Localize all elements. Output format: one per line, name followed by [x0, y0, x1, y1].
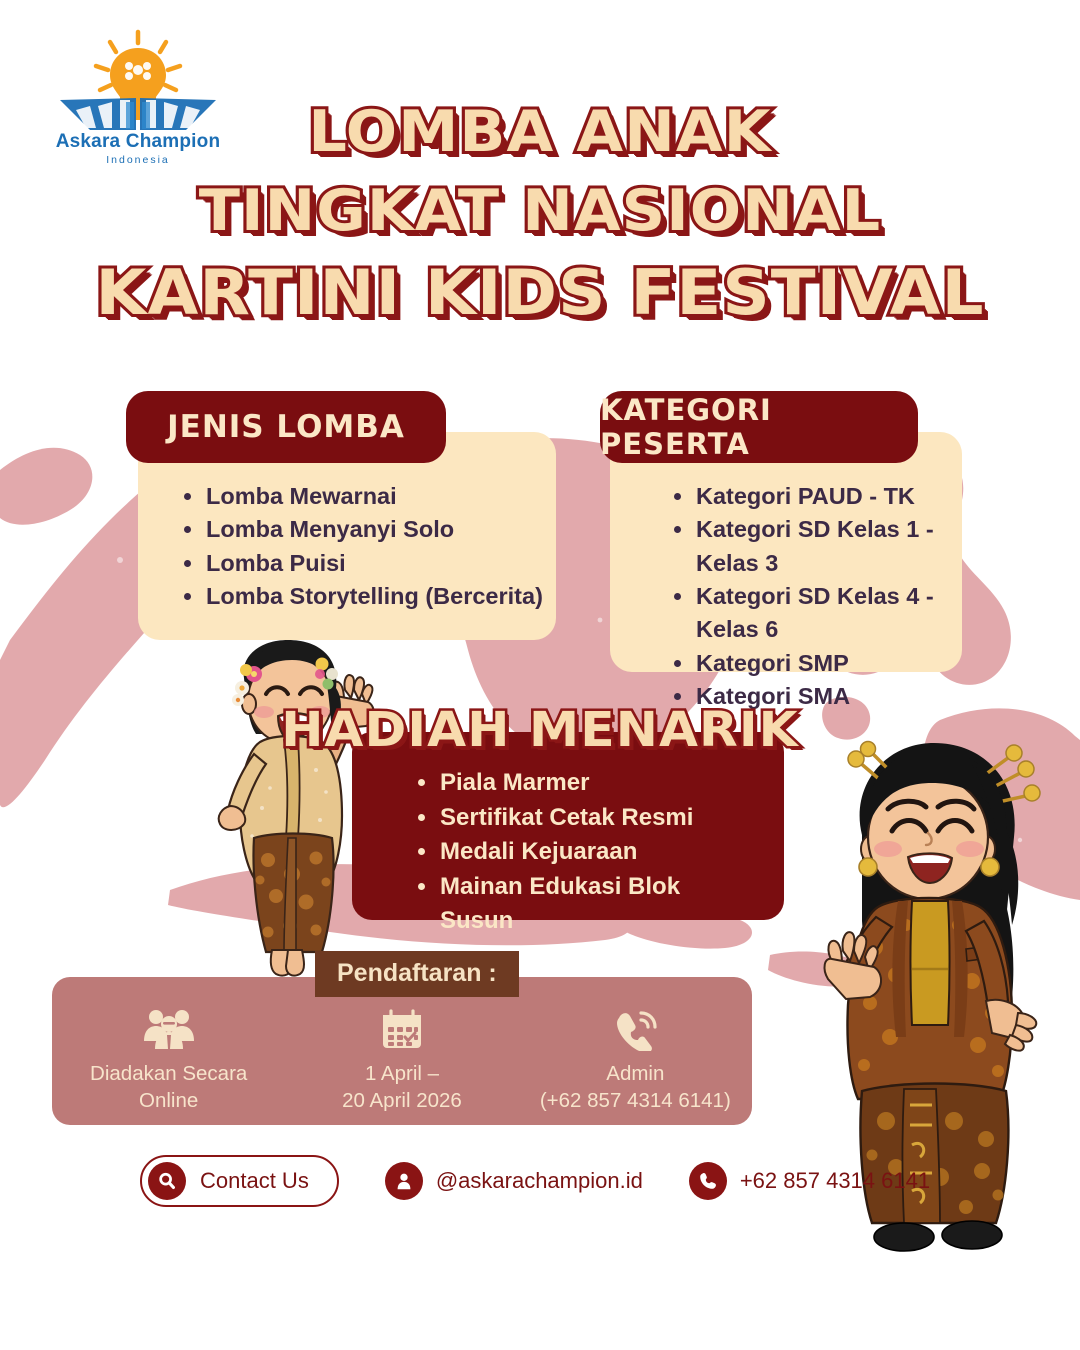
brand-subtitle: Indonesia — [38, 154, 238, 166]
kategori-peserta-header: KATEGORI PESERTA — [600, 391, 918, 463]
registration-bar: Diadakan Secara Online — [52, 977, 752, 1125]
registration-tab-label: Pendaftaran : — [315, 951, 519, 997]
jenis-lomba-list: Lomba MewarnaiLomba Menyanyi SoloLomba P… — [150, 480, 584, 613]
headline-line-2: TINGKAT NASIONAL — [0, 183, 1080, 240]
list-item: Kategori SD Kelas 4 - Kelas 6 — [674, 580, 974, 647]
poster-root: Askara Champion Indonesia LOMBA ANAK TIN… — [0, 0, 1080, 1350]
list-item: Lomba Menyanyi Solo — [184, 513, 584, 546]
calendar-check-icon — [378, 1007, 426, 1051]
person-icon — [385, 1162, 423, 1200]
list-item: Sertifikat Cetak Resmi — [418, 801, 748, 836]
registration-online-line2: Online — [139, 1088, 198, 1115]
instagram-handle: @askarachampion.id — [436, 1168, 643, 1194]
list-item: Piala Marmer — [418, 766, 748, 801]
registration-column-admin: Admin (+62 857 4314 6141) — [519, 977, 752, 1125]
contact-us-button[interactable]: Contact Us — [140, 1155, 339, 1207]
list-item: Medali Kejuaraan — [418, 835, 748, 870]
list-item: Lomba Mewarnai — [184, 480, 584, 513]
registration-online-line1: Diadakan Secara — [90, 1061, 247, 1088]
registration-column-online: Diadakan Secara Online — [52, 977, 285, 1125]
phone-contact[interactable]: +62 857 4314 6141 — [689, 1162, 930, 1200]
list-item: Kategori SMP — [674, 647, 974, 680]
registration-dates-line1: 1 April – — [365, 1061, 439, 1088]
phone-number: +62 857 4314 6141 — [740, 1168, 930, 1194]
headline-line-3: KARTINI KIDS FESTIVAL — [0, 262, 1080, 324]
list-item: Mainan Edukasi Blok Susun — [418, 870, 748, 939]
contact-us-label: Contact Us — [200, 1168, 309, 1194]
lightbulb-book-logo-icon — [38, 26, 238, 136]
registration-dates-line2: 20 April 2026 — [342, 1088, 462, 1115]
footer-contacts: Contact Us @askarachampion.id +62 857 43… — [140, 1155, 930, 1207]
kategori-peserta-list: Kategori PAUD - TKKategori SD Kelas 1 - … — [640, 480, 974, 714]
phone-icon — [689, 1162, 727, 1200]
list-item: Kategori SD Kelas 1 - Kelas 3 — [674, 513, 974, 580]
registration-admin-line1: Admin — [606, 1061, 664, 1088]
search-icon — [148, 1162, 186, 1200]
registration-column-dates: 1 April – 20 April 2026 — [285, 977, 518, 1125]
hadiah-header: HADIAH MENARIK — [0, 702, 1080, 758]
brand-name: Askara Champion — [38, 132, 238, 151]
list-item: Lomba Puisi — [184, 547, 584, 580]
list-item: Lomba Storytelling (Bercerita) — [184, 580, 584, 613]
registration-admin-line2: (+62 857 4314 6141) — [540, 1088, 731, 1115]
brand-logo: Askara Champion Indonesia — [38, 26, 238, 176]
list-item: Kategori PAUD - TK — [674, 480, 974, 513]
group-people-icon — [139, 1007, 199, 1051]
instagram-contact[interactable]: @askarachampion.id — [385, 1162, 643, 1200]
hadiah-list: Piala MarmerSertifikat Cetak ResmiMedali… — [418, 766, 748, 939]
jenis-lomba-header: JENIS LOMBA — [126, 391, 446, 463]
ringing-phone-icon — [611, 1007, 659, 1051]
